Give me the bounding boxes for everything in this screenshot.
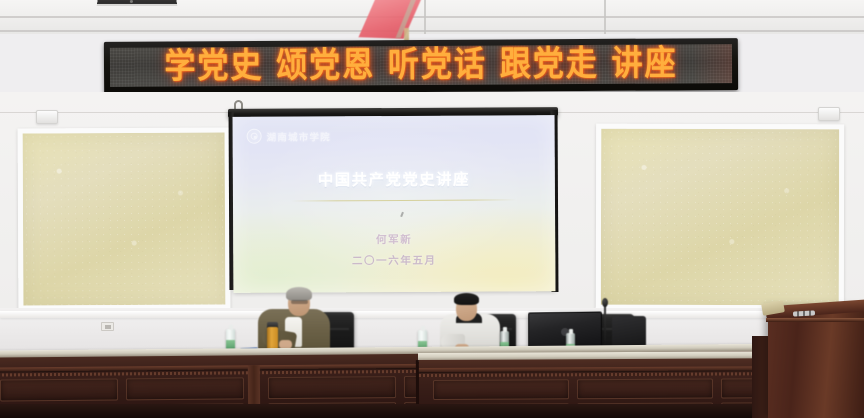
beige-board-left xyxy=(18,128,231,311)
table-panel xyxy=(0,379,118,402)
floor xyxy=(0,404,864,418)
slide-speaker-name: 何军新 xyxy=(233,231,555,248)
wooden-lectern xyxy=(768,306,864,418)
man-right-hair xyxy=(454,293,479,305)
table-panel xyxy=(126,377,244,400)
wall-sensor-right xyxy=(818,107,840,121)
ceiling-seam xyxy=(0,16,864,18)
table-panel xyxy=(268,376,396,399)
led-marquee-banner: 学党史 颂党恩 听党话 跟党走 讲座 xyxy=(104,38,738,94)
man-left-glasses-icon xyxy=(291,300,308,304)
photo-scene: 学党史 颂党恩 听党话 跟党走 讲座 湖南城市学院 中国共产党党史讲座 何军新 … xyxy=(0,0,864,418)
lectern-edge xyxy=(766,318,864,322)
man-left-hair xyxy=(286,287,312,301)
slide-date: 二〇一六年五月 xyxy=(233,252,555,269)
ceiling-panel-divider xyxy=(604,0,606,34)
ceiling-panel-divider xyxy=(424,0,426,34)
slide-logo-text: 湖南城市学院 xyxy=(267,129,331,143)
slide-title: 中国共产党党史讲座 xyxy=(233,167,555,191)
ceiling-projector-vent xyxy=(97,0,178,6)
desk-microphone-icon xyxy=(602,298,608,307)
projection-screen: 湖南城市学院 中国共产党党史讲座 何军新 二〇一六年五月 xyxy=(233,115,556,293)
slide-divider xyxy=(291,199,517,201)
slide-logo: 湖南城市学院 xyxy=(247,128,331,143)
university-seal-icon xyxy=(247,129,262,144)
wall-sensor-left xyxy=(36,110,58,124)
screen-speck xyxy=(400,212,404,217)
led-screen: 学党史 颂党恩 听党话 跟党走 讲座 xyxy=(110,44,732,87)
led-banner-text: 学党史 颂党恩 听党话 跟党走 讲座 xyxy=(164,47,677,85)
baseboard-trim xyxy=(0,311,864,318)
led-glow xyxy=(692,44,732,83)
table-panel xyxy=(577,379,713,400)
table-panel xyxy=(433,379,569,400)
wall-outlet xyxy=(101,322,114,331)
ceiling-seam xyxy=(0,30,864,32)
beige-board-right xyxy=(596,124,844,311)
